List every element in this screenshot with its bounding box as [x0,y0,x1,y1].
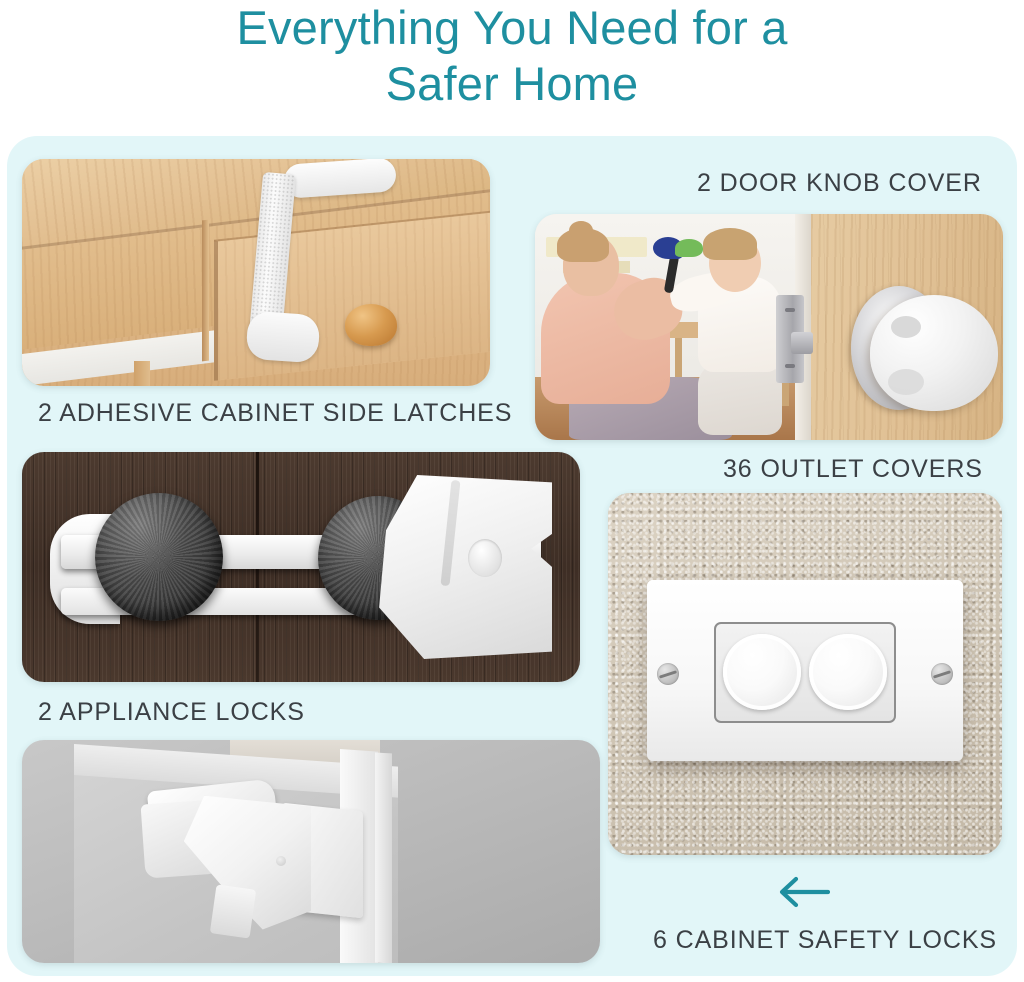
product-label-cabinet-safety-locks: 6 CABINET SAFETY LOCKS [653,925,997,955]
outlet-cover-left [723,634,802,710]
strike-hole-bottom [785,364,795,368]
desk-leg [134,361,150,386]
adult-hair-bun [569,221,593,240]
product-image-appliance-locks [22,452,580,682]
outlet-wall-plate [647,580,962,761]
cabinet-lock-photo [22,740,600,963]
product-image-cabinet-safety-locks [22,740,600,963]
toddler-hair [703,228,757,260]
page-title: Everything You Need for a Safer Home [0,0,1024,140]
toddler-pants [698,361,782,436]
door-latch-bolt [791,332,813,354]
product-image-outlet-covers [608,493,1002,855]
outlet-opening [714,622,897,723]
appliance-lock-body [379,475,552,659]
strike-hole-top [785,308,795,312]
product-label-door-knob-cover: 2 DOOR KNOB COVER [697,168,982,198]
plate-screw-right [931,663,953,685]
title-line-1: Everything You Need for a [236,2,787,54]
product-image-door-knob-cover [535,214,1003,440]
product-label-outlet-covers: 36 OUTLET COVERS [723,454,983,484]
drawer-knob [345,304,397,346]
arrow-left-icon [778,876,830,908]
product-label-appliance-locks: 2 APPLIANCE LOCKS [38,697,305,727]
drawer-gap [202,220,209,361]
title-line-2: Safer Home [386,58,639,110]
cabinet-frame [375,753,392,963]
cabinet-knob-left [95,493,223,621]
textured-wall [608,493,1002,855]
appliance-lock-photo [22,452,580,682]
plate-screw-left [657,663,679,685]
door-knob-cover [870,295,998,411]
door-knob-photo [535,214,1003,440]
outlet-cover-right [809,634,888,710]
product-label-adhesive-cabinet-side-latches: 2 ADHESIVE CABINET SIDE LATCHES [38,398,512,428]
product-image-adhesive-cabinet-side-latches [22,159,490,386]
cabinet-lock-tail [210,885,257,939]
infographic-root: Everything You Need for a Safer Home 2 A… [0,0,1024,982]
lifestyle-photo [535,214,816,440]
drawer-photo [22,159,490,386]
latch-adhesive-pad-bottom [245,311,320,364]
toy-green-bird [675,239,703,257]
